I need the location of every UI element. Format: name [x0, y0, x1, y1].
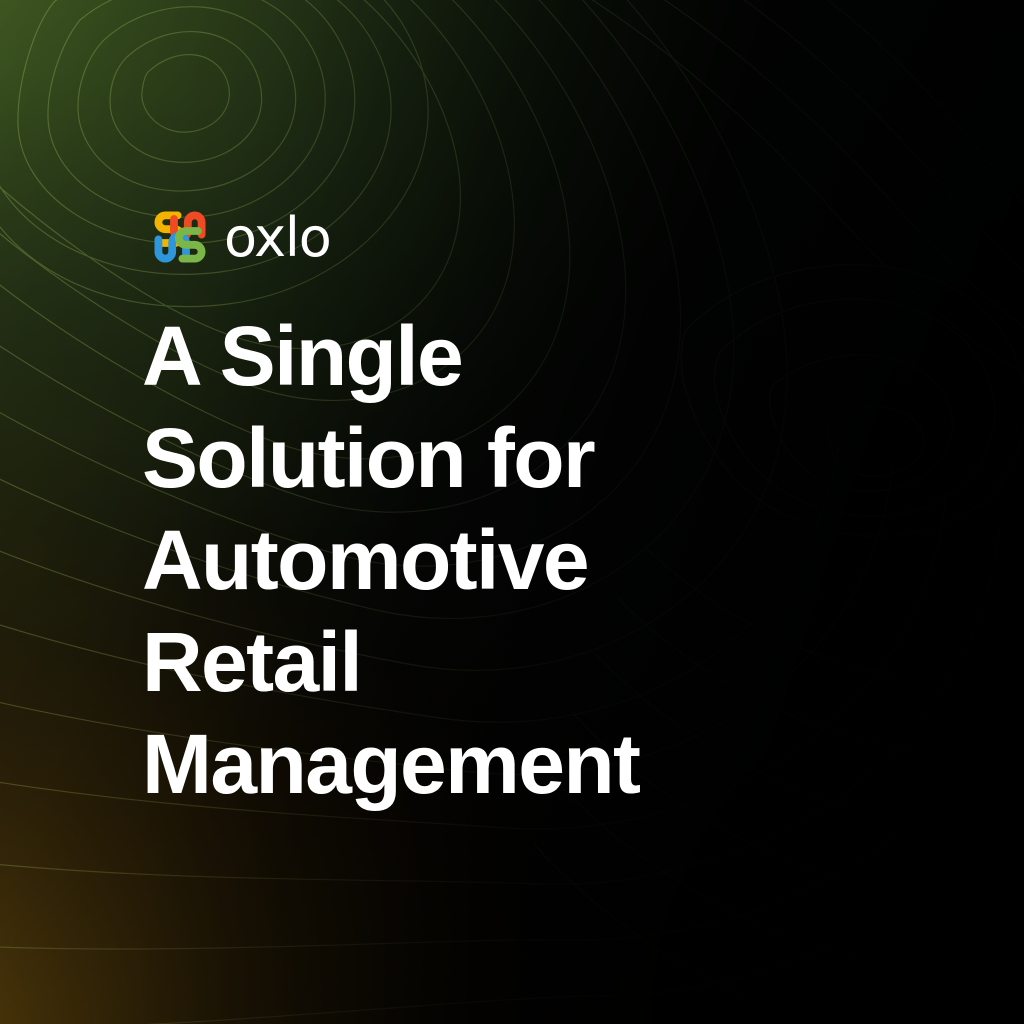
content-area: oxlo A Single Solution for Automotive Re… — [142, 0, 902, 1024]
headline-line-1: A Single — [142, 305, 762, 407]
headline-line-2: Solution for — [142, 407, 762, 509]
headline-line-4: Retail — [142, 611, 762, 713]
brand-wordmark: oxlo — [224, 211, 331, 265]
page-title: A Single Solution for Automotive Retail … — [142, 305, 762, 815]
promo-banner: oxlo A Single Solution for Automotive Re… — [0, 0, 1024, 1024]
oxlo-pinwheel-logo-icon — [150, 207, 210, 267]
headline-line-3: Automotive — [142, 509, 762, 611]
brand-logo-lockup[interactable]: oxlo — [150, 206, 331, 268]
headline-line-5: Management — [142, 713, 762, 815]
